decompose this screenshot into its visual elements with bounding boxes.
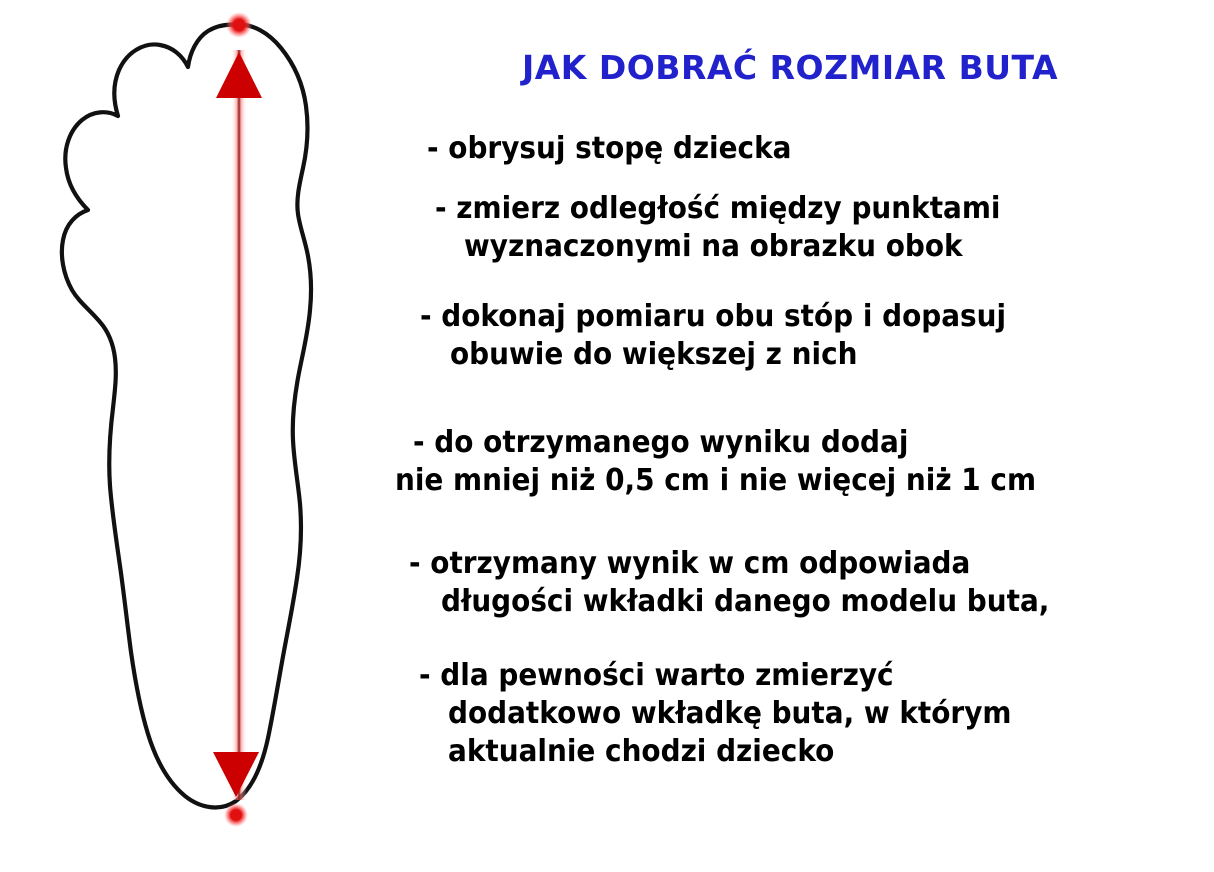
instruction-block-6: - dla pewności warto zmierzyć dodatkowo … <box>395 657 1214 771</box>
instruction-line: - zmierz odległość między punktami <box>435 190 1159 228</box>
instruction-block-4: - do otrzymanego wyniku dodaj nie mniej … <box>395 424 1214 500</box>
instruction-block-5: - otrzymany wynik w cm odpowiada długośc… <box>395 545 1214 621</box>
toe-point-marker <box>226 12 252 38</box>
instructions-column: JAK DOBRAĆ ROZMIAR BUTA - obrysuj stopę … <box>395 0 1214 872</box>
instruction-line: długości wkładki danego modelu buta, <box>441 583 1160 621</box>
instruction-line: - otrzymany wynik w cm odpowiada <box>409 545 1158 583</box>
instruction-line: - obrysuj stopę dziecka <box>427 130 1159 168</box>
foot-outline-diagram <box>0 0 400 872</box>
instruction-line: - do otrzymanego wyniku dodaj <box>413 424 1158 462</box>
instruction-line: dodatkowo wkładkę buta, w którym <box>448 695 1160 733</box>
instruction-line: obuwie do większej z nich <box>450 336 1161 374</box>
infographic-page: JAK DOBRAĆ ROZMIAR BUTA - obrysuj stopę … <box>0 0 1214 872</box>
foot-outline-path <box>62 25 311 808</box>
measurement-arrow-shaft <box>231 50 247 800</box>
heel-point-marker <box>224 803 248 827</box>
instruction-line: - dla pewności warto zmierzyć <box>419 657 1158 695</box>
instruction-line: nie mniej niż 0,5 cm i nie więcej niż 1 … <box>395 462 1157 500</box>
instruction-block-3: - dokonaj pomiaru obu stóp i dopasuj obu… <box>395 298 1214 374</box>
instruction-line: wyznaczonymi na obrazku obok <box>464 228 1162 266</box>
instruction-line: aktualnie chodzi dziecko <box>448 733 1160 771</box>
page-title: JAK DOBRAĆ ROZMIAR BUTA <box>395 48 1185 87</box>
instruction-line: - dokonaj pomiaru obu stóp i dopasuj <box>420 298 1158 336</box>
instruction-block-2: - zmierz odległość między punktami wyzna… <box>395 190 1214 266</box>
instruction-block-1: - obrysuj stopę dziecka <box>395 130 1214 168</box>
